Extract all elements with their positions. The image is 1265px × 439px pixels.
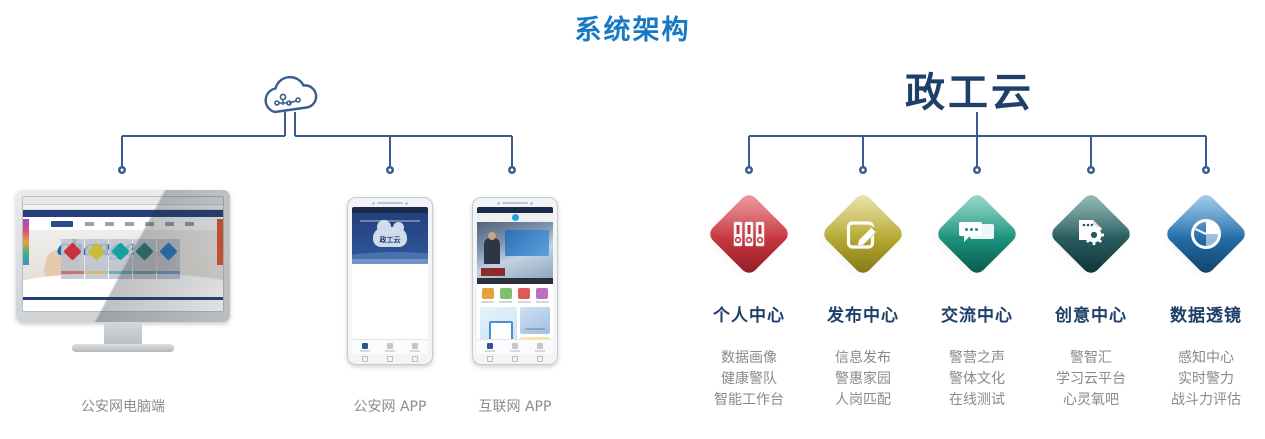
module-item[interactable]: 在线测试 bbox=[920, 390, 1034, 411]
app2-quick-item[interactable] bbox=[535, 288, 550, 303]
app-tab-message[interactable] bbox=[377, 340, 402, 354]
desktop-monitor-icon: change bbox=[16, 190, 230, 366]
module-item[interactable]: 实时警力 bbox=[1149, 369, 1263, 390]
module-item[interactable]: 智能工作台 bbox=[692, 390, 806, 411]
module-icon-wrap bbox=[710, 195, 788, 273]
app2-quick-item[interactable] bbox=[480, 288, 495, 303]
module-item[interactable]: 警体文化 bbox=[920, 369, 1034, 390]
phone-camera bbox=[372, 202, 375, 205]
module-title: 数据透镜 bbox=[1149, 301, 1263, 326]
side-tab-right bbox=[217, 219, 223, 265]
phone-speaker bbox=[377, 202, 403, 204]
phone-nav-keys bbox=[352, 355, 428, 363]
site-card-4 bbox=[157, 239, 180, 279]
site-card-1 bbox=[85, 239, 108, 279]
smartphone-internet-app bbox=[472, 197, 558, 365]
module-personal-center[interactable]: 个人中心 数据画像 健康警队 智能工作台 bbox=[692, 195, 806, 411]
module-icon-wrap bbox=[1052, 195, 1130, 273]
binders-icon bbox=[710, 195, 788, 273]
app2-tabbar bbox=[477, 339, 553, 354]
caption-pc: 公安网电脑端 bbox=[43, 396, 203, 416]
header-wave bbox=[352, 252, 428, 264]
site-logo bbox=[51, 221, 73, 227]
module-item-list: 感知中心 实时警力 战斗力评估 bbox=[1149, 348, 1263, 411]
chat-bubbles-icon bbox=[938, 195, 1016, 273]
cloud-network-icon bbox=[255, 72, 327, 118]
module-item[interactable]: 学习云平台 bbox=[1034, 369, 1148, 390]
site-card-0 bbox=[61, 239, 84, 279]
module-item[interactable]: 人岗匹配 bbox=[806, 390, 920, 411]
monitor-base bbox=[72, 344, 174, 352]
app-tab-home[interactable] bbox=[352, 340, 377, 354]
caption-app-internet: 互联网 APP bbox=[435, 396, 595, 416]
module-creative-center[interactable]: 创意中心 警智汇 学习云平台 心灵氧吧 bbox=[1034, 195, 1148, 411]
app2-toolbar bbox=[477, 213, 553, 222]
app2-tab-profile[interactable] bbox=[528, 340, 553, 354]
module-publish-center[interactable]: 发布中心 信息发布 警惠家园 人岗匹配 bbox=[806, 195, 920, 411]
site-card-2 bbox=[109, 239, 132, 279]
module-item[interactable]: 警惠家园 bbox=[806, 369, 920, 390]
module-item[interactable]: 战斗力评估 bbox=[1149, 390, 1263, 411]
module-item[interactable]: 数据画像 bbox=[692, 348, 806, 369]
module-icon-wrap bbox=[824, 195, 902, 273]
phone-sensor bbox=[405, 202, 408, 205]
app2-tab-service[interactable] bbox=[502, 340, 527, 354]
monitor-neck bbox=[104, 321, 142, 346]
app2-quick-item[interactable] bbox=[498, 288, 513, 303]
banner-podium bbox=[481, 268, 505, 276]
module-title: 个人中心 bbox=[692, 301, 806, 326]
site-footer bbox=[23, 297, 223, 311]
site-card-3 bbox=[133, 239, 156, 279]
phone-sensor bbox=[530, 202, 533, 205]
app-header-title: 政工云 bbox=[352, 235, 428, 245]
smartphone-gongan-app: 政工云 bbox=[347, 197, 433, 365]
module-item[interactable]: 信息发布 bbox=[806, 348, 920, 369]
module-title: 发布中心 bbox=[806, 301, 920, 326]
site-menu bbox=[85, 222, 203, 226]
architecture-diagram: 系统架构 政工云 bbox=[0, 0, 1265, 439]
module-title: 创意中心 bbox=[1034, 301, 1148, 326]
module-item[interactable]: 健康警队 bbox=[692, 369, 806, 390]
site-header bbox=[23, 217, 223, 231]
site-navbar bbox=[23, 210, 223, 217]
module-title: 交流中心 bbox=[920, 301, 1034, 326]
module-data-lens[interactable]: 数据透镜 感知中心 实时警力 战斗力评估 bbox=[1149, 195, 1263, 411]
brand-title: 政工云 bbox=[905, 60, 1034, 118]
site-module-cards bbox=[61, 239, 181, 279]
app2-tab-home[interactable] bbox=[477, 340, 502, 354]
app2-quick-item[interactable] bbox=[517, 288, 532, 303]
module-item-list: 数据画像 健康警队 智能工作台 bbox=[692, 348, 806, 411]
page-title: 系统架构 bbox=[0, 8, 1265, 47]
module-icon-wrap bbox=[938, 195, 1016, 273]
module-item[interactable]: 警营之声 bbox=[920, 348, 1034, 369]
app2-banner-photo bbox=[477, 222, 553, 278]
module-exchange-center[interactable]: 交流中心 警营之声 警体文化 在线测试 bbox=[920, 195, 1034, 411]
app-tab-profile[interactable] bbox=[403, 340, 428, 354]
banner-screen bbox=[505, 230, 549, 256]
module-item[interactable]: 心灵氧吧 bbox=[1034, 390, 1148, 411]
pie-chart-icon bbox=[1167, 195, 1245, 273]
app2-logo-icon bbox=[512, 214, 519, 221]
document-gear-icon bbox=[1052, 195, 1130, 273]
phone-speaker bbox=[502, 202, 528, 204]
phone-camera bbox=[497, 202, 500, 205]
side-tab-left bbox=[23, 219, 29, 265]
pencil-edit-icon bbox=[824, 195, 902, 273]
app-tabbar bbox=[352, 339, 428, 354]
browser-chrome bbox=[23, 197, 223, 205]
app-header: 政工云 bbox=[352, 213, 428, 259]
app2-quick-row bbox=[477, 284, 553, 307]
module-item[interactable]: 感知中心 bbox=[1149, 348, 1263, 369]
module-item-list: 警智汇 学习云平台 心灵氧吧 bbox=[1034, 348, 1148, 411]
phone-nav-keys bbox=[477, 355, 553, 363]
app2-tile-secondary-1[interactable] bbox=[520, 307, 550, 334]
module-item-list: 警营之声 警体文化 在线测试 bbox=[920, 348, 1034, 411]
module-item-list: 信息发布 警惠家园 人岗匹配 bbox=[806, 348, 920, 411]
module-item[interactable]: 警智汇 bbox=[1034, 348, 1148, 369]
module-icon-wrap bbox=[1167, 195, 1245, 273]
banner-person bbox=[484, 238, 500, 264]
